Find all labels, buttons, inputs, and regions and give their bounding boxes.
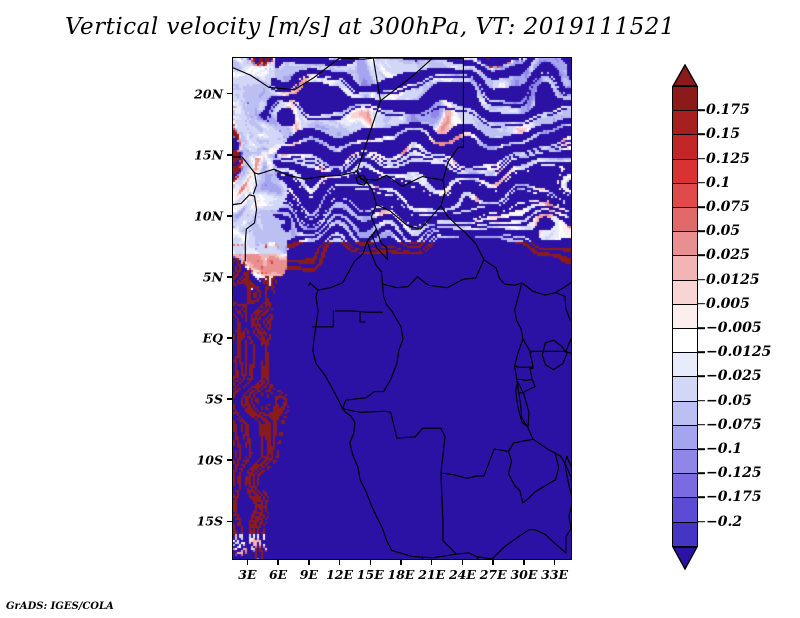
x-axis-tick-label: 3E: [238, 567, 256, 582]
colorbar-swatch: [672, 304, 698, 330]
colorbar-tick-label: 0.175: [706, 102, 750, 118]
colorbar-min-arrow: [672, 546, 698, 570]
page-title: Vertical velocity [m/s] at 300hPa, VT: 2…: [0, 14, 740, 40]
colorbar-tick: [698, 521, 705, 523]
colorbar-swatch: [672, 473, 698, 499]
colorbar-swatch: [672, 352, 698, 378]
colorbar-swatch: [672, 449, 698, 475]
x-axis-tick: [400, 560, 402, 565]
colorbar-swatch: [672, 497, 698, 523]
colorbar-tick-label: 0.0125: [706, 272, 760, 288]
colorbar-tick-label: 0.15: [706, 126, 740, 142]
colorbar-swatch: [672, 86, 698, 112]
colorbar-tick-label: −0.125: [706, 465, 762, 481]
colorbar-tick-label: 0.1: [706, 175, 730, 191]
colorbar-tick: [698, 109, 705, 111]
x-axis-tick: [554, 560, 556, 565]
x-axis-tick-label: 15E: [357, 567, 384, 582]
colorbar-swatch: [672, 328, 698, 354]
colorbar-tick: [698, 472, 705, 474]
x-axis-tick: [339, 560, 341, 565]
colorbar-tick-label: −0.075: [706, 417, 762, 433]
colorbar-tick: [698, 303, 705, 305]
colorbar-tick: [698, 182, 705, 184]
y-axis-tick-label: 5S: [205, 392, 223, 407]
x-axis-tick-label: 6E: [269, 567, 287, 582]
colorbar-tick: [698, 158, 705, 160]
colorbar-tick-label: 0.005: [706, 296, 750, 312]
y-axis-tick-label: 20N: [194, 86, 223, 101]
colorbar-swatch: [672, 522, 698, 548]
x-axis-tick: [462, 560, 464, 565]
x-axis-tick: [277, 560, 279, 565]
x-axis-tick-label: 33E: [541, 567, 568, 582]
x-axis-tick-label: 18E: [388, 567, 415, 582]
colorbar-max-arrow: [672, 64, 698, 87]
y-axis-tick: [227, 398, 232, 400]
colorbar-tick-label: 0.125: [706, 151, 750, 167]
colorbar-swatch: [672, 183, 698, 209]
footer-credit: GrADS: IGES/COLA: [6, 601, 114, 612]
colorbar-swatch: [672, 110, 698, 136]
colorbar-tick-label: −0.0125: [706, 344, 771, 360]
map-plot-area: [232, 57, 572, 560]
colorbar-swatch: [672, 207, 698, 233]
colorbar-tick: [698, 448, 705, 450]
colorbar-swatch: [672, 159, 698, 185]
y-axis-tick-label: EQ: [203, 331, 223, 346]
x-axis-tick-label: 12E: [326, 567, 353, 582]
y-axis-tick-label: 5N: [203, 269, 223, 284]
colorbar-tick: [698, 327, 705, 329]
colorbar-tick-label: 0.05: [706, 223, 740, 239]
colorbar-swatch: [672, 401, 698, 427]
colorbar-tick: [698, 424, 705, 426]
colorbar-swatch: [672, 134, 698, 160]
y-axis-tick: [227, 215, 232, 217]
vertical-velocity-heatmap: [233, 58, 571, 559]
colorbar-tick: [698, 230, 705, 232]
x-axis-tick-label: 9E: [300, 567, 318, 582]
y-axis-tick-label: 15N: [194, 147, 223, 162]
colorbar-tick: [698, 255, 705, 257]
colorbar-tick-label: 0.025: [706, 247, 750, 263]
colorbar-tick-label: −0.2: [706, 514, 742, 530]
x-axis-tick-label: 21E: [418, 567, 445, 582]
colorbar-swatch: [672, 255, 698, 281]
colorbar-swatch: [672, 231, 698, 257]
y-axis-tick: [227, 276, 232, 278]
colorbar-tick: [698, 351, 705, 353]
x-axis-tick: [247, 560, 249, 565]
y-axis-tick-label: 10S: [197, 453, 223, 468]
y-axis-tick: [227, 521, 232, 523]
x-axis-tick-label: 27E: [480, 567, 507, 582]
colorbar-tick: [698, 279, 705, 281]
colorbar-tick-label: −0.025: [706, 368, 762, 384]
y-axis-tick: [227, 459, 232, 461]
y-axis-tick-label: 15S: [197, 514, 223, 529]
colorbar-swatch: [672, 376, 698, 402]
x-axis-tick-label: 24E: [449, 567, 476, 582]
x-axis-tick: [431, 560, 433, 565]
colorbar-tick-label: −0.175: [706, 489, 762, 505]
x-axis-tick: [370, 560, 372, 565]
colorbar-tick: [698, 134, 705, 136]
y-axis-tick: [227, 154, 232, 156]
y-axis-tick: [227, 337, 232, 339]
colorbar-tick: [698, 206, 705, 208]
colorbar-tick-label: 0.075: [706, 199, 750, 215]
x-axis-tick: [308, 560, 310, 565]
colorbar-tick: [698, 400, 705, 402]
colorbar-tick-label: −0.005: [706, 320, 762, 336]
x-axis-tick: [523, 560, 525, 565]
colorbar-tick: [698, 497, 705, 499]
y-axis-tick: [227, 93, 232, 95]
colorbar-tick-label: −0.05: [706, 393, 752, 409]
colorbar-swatch: [672, 425, 698, 451]
y-axis-tick-label: 10N: [194, 208, 223, 223]
colorbar-tick: [698, 376, 705, 378]
colorbar-tick-label: −0.1: [706, 441, 742, 457]
colorbar-swatch: [672, 280, 698, 306]
x-axis-tick-label: 30E: [510, 567, 537, 582]
x-axis-tick: [492, 560, 494, 565]
